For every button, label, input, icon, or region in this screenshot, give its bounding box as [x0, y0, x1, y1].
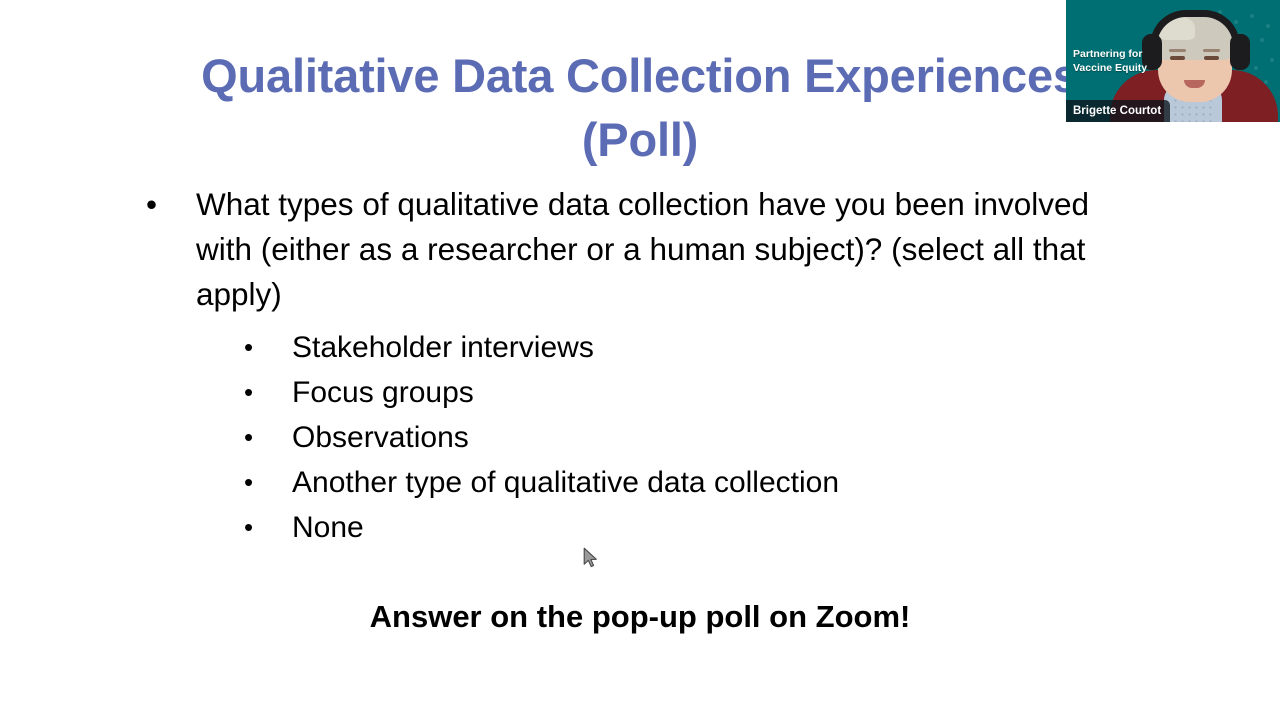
- eyebrow-left: [1169, 49, 1186, 52]
- eye-right: [1204, 56, 1219, 60]
- list-item: • Focus groups: [0, 370, 1280, 415]
- bullet-marker: •: [244, 460, 253, 505]
- poll-options-list: • Stakeholder interviews • Focus groups …: [0, 325, 1280, 550]
- list-item: • Stakeholder interviews: [0, 325, 1280, 370]
- participant-name-badge: Brigette Courtot: [1066, 100, 1170, 122]
- poll-option-label: None: [292, 511, 364, 544]
- eyebrow-right: [1203, 49, 1220, 52]
- bullet-marker: •: [146, 182, 157, 227]
- poll-option-label: Focus groups: [292, 376, 474, 409]
- program-brand-label: Partnering for Vaccine Equity: [1073, 47, 1147, 75]
- participant-video-tile[interactable]: Partnering for Vaccine Equity Brigette C…: [1066, 0, 1280, 122]
- bullet-marker: •: [244, 325, 253, 370]
- poll-option-label: Observations: [292, 421, 469, 454]
- slide-canvas: Qualitative Data Collection Experiences …: [0, 0, 1280, 720]
- poll-question-text: What types of qualitative data collectio…: [196, 186, 1089, 312]
- list-item: • None: [0, 505, 1280, 550]
- poll-question: • What types of qualitative data collect…: [0, 182, 1280, 317]
- poll-instruction-callout: Answer on the pop-up poll on Zoom!: [0, 597, 1280, 637]
- program-brand-line-2: Vaccine Equity: [1073, 61, 1147, 75]
- bullet-marker: •: [244, 505, 253, 550]
- headphones-band: [1150, 10, 1240, 46]
- poll-option-label: Stakeholder interviews: [292, 331, 594, 364]
- bullet-marker: •: [244, 415, 253, 460]
- list-item: • Another type of qualitative data colle…: [0, 460, 1280, 505]
- bullet-marker: •: [244, 370, 253, 415]
- headphone-cup-right: [1230, 34, 1250, 70]
- poll-option-label: Another type of qualitative data collect…: [292, 466, 839, 499]
- slide-body: • What types of qualitative data collect…: [0, 182, 1280, 550]
- arrow-cursor-icon: [583, 547, 599, 569]
- eye-left: [1170, 56, 1185, 60]
- list-item: • Observations: [0, 415, 1280, 460]
- program-brand-line-1: Partnering for: [1073, 47, 1147, 61]
